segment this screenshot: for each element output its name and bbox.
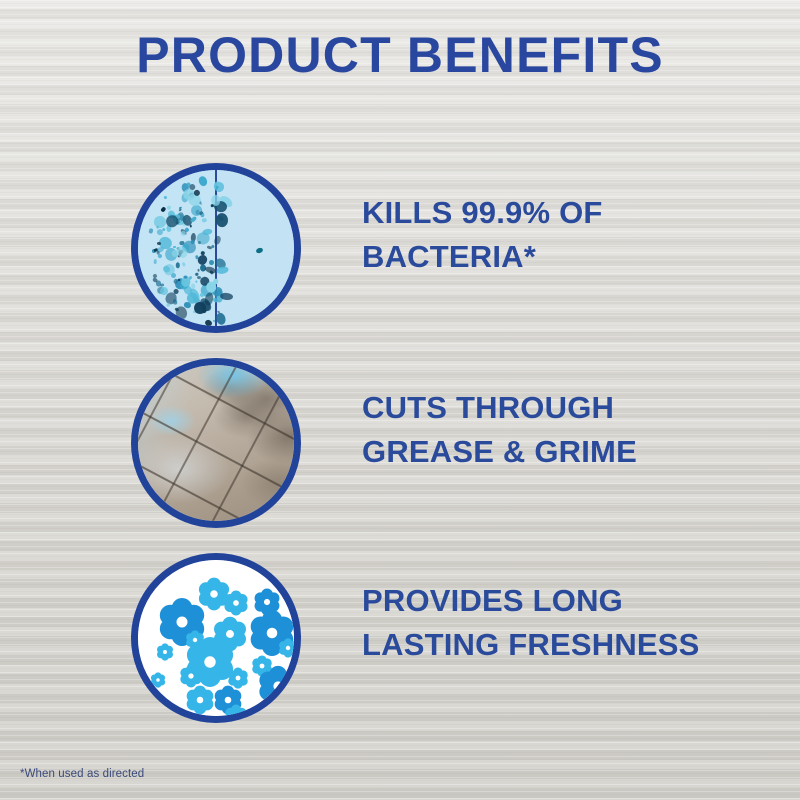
- footnote-disclaimer: *When used as directed: [20, 768, 144, 780]
- germ-spot: [176, 262, 180, 268]
- product-benefits-poster: PRODUCT BENEFITS KILLS 99.9% OF BACTERIA…: [0, 0, 800, 800]
- benefit-text-kills-bacteria: KILLS 99.9% OF BACTERIA*: [362, 191, 782, 279]
- flower-icon: [278, 638, 298, 658]
- germ-spot: [157, 241, 161, 244]
- bacteria-clean-half: [216, 170, 294, 326]
- flower-icon: [257, 665, 299, 707]
- flower-icon: [185, 685, 215, 715]
- flower-icon: [223, 590, 249, 616]
- tile-floor-circle-icon: [131, 358, 301, 528]
- benefit-text-freshness: PROVIDES LONG LASTING FRESHNESS: [362, 579, 782, 667]
- page-title: PRODUCT BENEFITS: [0, 26, 800, 84]
- benefit-text-cuts-grease: CUTS THROUGH GREASE & GRIME: [362, 386, 782, 474]
- flower-icon: [156, 643, 174, 661]
- benefit-row-kills-bacteria: KILLS 99.9% OF BACTERIA*: [0, 163, 800, 333]
- flowers-circle-icon: [131, 553, 301, 723]
- clean-shine-highlight: [138, 365, 294, 521]
- flower-icon: [224, 704, 248, 723]
- benefit-row-cuts-grease: CUTS THROUGH GREASE & GRIME: [0, 358, 800, 528]
- bacteria-split-circle-icon: [131, 163, 301, 333]
- benefit-row-freshness: PROVIDES LONG LASTING FRESHNESS: [0, 553, 800, 723]
- germ-spot: [190, 240, 194, 244]
- flower-icon: [150, 672, 166, 688]
- germ-spot: [187, 278, 190, 281]
